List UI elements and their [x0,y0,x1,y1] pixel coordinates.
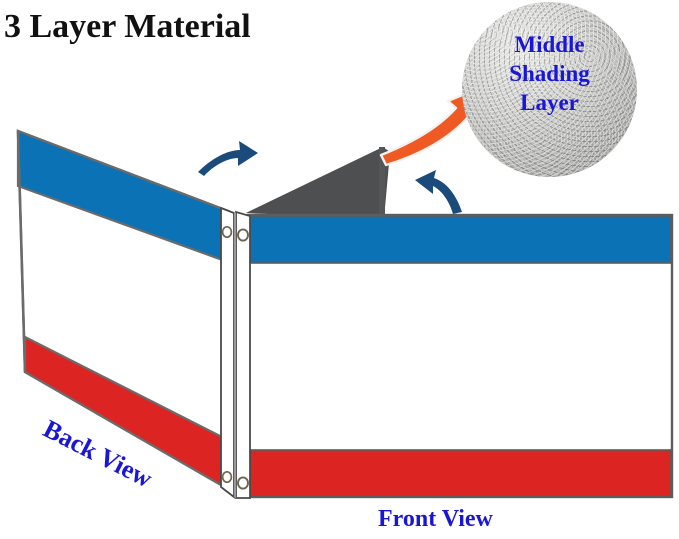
inset-caption: Middle Shading Layer [462,30,637,117]
grommet-ring-icon [238,229,248,240]
inset-caption-line-1: Middle [462,30,637,59]
header-strip-back [221,208,234,497]
curved-arrow-left-icon [415,170,462,214]
grommet-ring-icon [223,472,232,482]
inset-caption-line-2: Shading [462,59,637,88]
middle-shading-layer-closeup: Middle Shading Layer [462,2,637,177]
grey-layer-top-fold [246,147,390,219]
front-panel-blue-band [249,216,671,263]
front-view-label: Front View [378,506,493,533]
header-strip-shadow [234,212,236,498]
illustration-canvas: 3 Layer Material Middle Shading Layer Ba… [0,0,679,539]
grommet-ring-icon [223,227,232,237]
front-view-panel [248,215,672,497]
page-title: 3 Layer Material [4,8,251,46]
grommet-ring-icon [238,477,248,488]
curved-arrow-right-icon [198,141,258,176]
inset-caption-line-3: Layer [462,88,637,117]
header-strip-front [236,212,250,498]
flag-header-strip [221,208,250,498]
middle-shading-layer-wedge [246,147,390,219]
front-panel-red-band [249,450,671,496]
